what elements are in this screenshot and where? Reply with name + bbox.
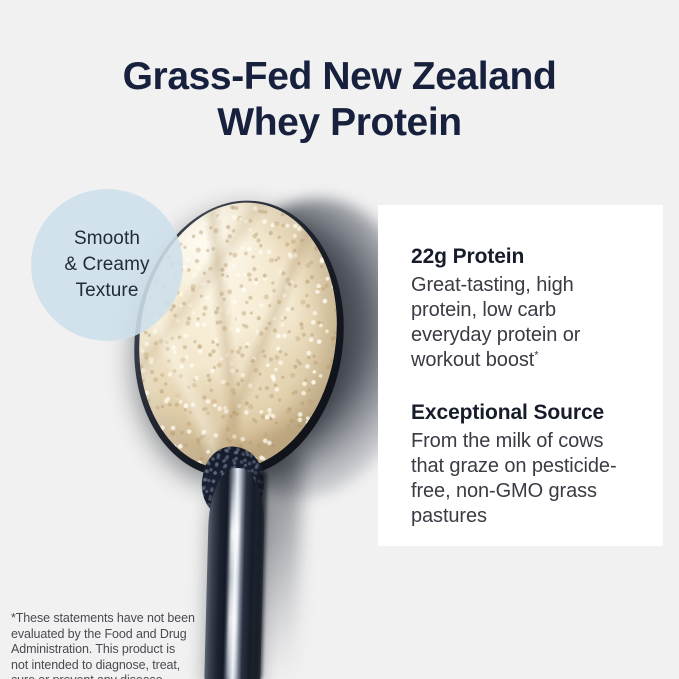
product-infographic: Grass-Fed New Zealand Whey Protein Smoot… (0, 0, 679, 679)
fda-disclaimer-line-3: Administration. This product is (11, 642, 216, 658)
texture-badge-line-3: Texture (64, 278, 149, 304)
feature-body-source: From the milk of cows that graze on pest… (411, 429, 637, 529)
fda-disclaimer: *These statements have not been evaluate… (11, 611, 216, 679)
fda-disclaimer-line-5: cure or prevent any disease. (11, 673, 216, 679)
feature-heading-protein: 22g Protein (411, 243, 637, 271)
feature-body-protein-text: Great-tasting, high protein, low carb ev… (411, 274, 580, 371)
fda-disclaimer-line-1: *These statements have not been (11, 611, 216, 627)
page-title-line-2: Whey Protein (0, 100, 679, 146)
footnote-marker-protein: * (534, 349, 538, 361)
fda-disclaimer-line-2: evaluated by the Food and Drug (11, 627, 216, 643)
feature-block-source: Exceptional Source From the milk of cows… (411, 399, 637, 529)
texture-badge-line-1: Smooth (64, 226, 149, 252)
texture-badge-text: Smooth & Creamy Texture (64, 226, 149, 304)
feature-info-card: 22g Protein Great-tasting, high protein,… (378, 205, 663, 546)
feature-block-protein: 22g Protein Great-tasting, high protein,… (411, 243, 637, 373)
page-title: Grass-Fed New Zealand Whey Protein (0, 54, 679, 146)
texture-badge-line-2: & Creamy (64, 252, 149, 278)
page-title-line-1: Grass-Fed New Zealand (0, 54, 679, 100)
smooth-creamy-texture-badge: Smooth & Creamy Texture (31, 189, 183, 341)
feature-heading-source: Exceptional Source (411, 399, 637, 427)
feature-body-protein: Great-tasting, high protein, low carb ev… (411, 273, 637, 373)
fda-disclaimer-line-4: not intended to diagnose, treat, (11, 658, 216, 674)
